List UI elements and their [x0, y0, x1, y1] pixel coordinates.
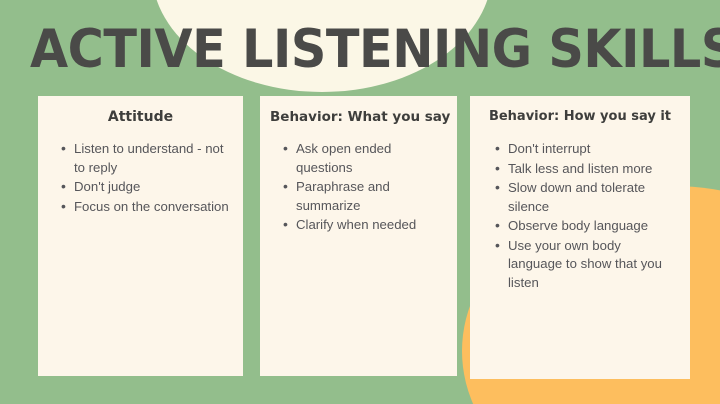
list-item: Ask open ended questions — [296, 140, 443, 177]
list-item: Clarify when needed — [296, 216, 443, 235]
page-title: ACTIVE LISTENING SKILLS — [30, 19, 644, 81]
card-title: Attitude — [48, 108, 233, 126]
list-item: Slow down and tolerate silence — [508, 179, 676, 216]
card-attitude: Attitude Listen to understand - not to r… — [38, 96, 243, 376]
list-item: Don't interrupt — [508, 140, 676, 159]
list-item: Observe body language — [508, 217, 676, 236]
card-behavior-how-you-say-it: Behavior: How you say it Don't interrupt… — [470, 96, 690, 379]
list-item: Focus on the conversation — [74, 198, 229, 217]
list-item: Don't judge — [74, 178, 229, 197]
card-title: Behavior: How you say it — [480, 108, 680, 126]
card-title: Behavior: What you say — [270, 108, 447, 126]
list-item: Listen to understand - not to reply — [74, 140, 229, 177]
card-list: Don't interrupt Talk less and listen mor… — [480, 140, 680, 292]
card-list: Ask open ended questions Paraphrase and … — [270, 140, 447, 235]
poster-canvas: ACTIVE LISTENING SKILLS Attitude Listen … — [0, 0, 720, 404]
list-item: Paraphrase and summarize — [296, 178, 443, 215]
card-behavior-what-you-say: Behavior: What you say Ask open ended qu… — [260, 96, 457, 376]
card-list: Listen to understand - not to reply Don'… — [48, 140, 233, 216]
list-item: Use your own body language to show that … — [508, 237, 676, 293]
list-item: Talk less and listen more — [508, 160, 676, 179]
